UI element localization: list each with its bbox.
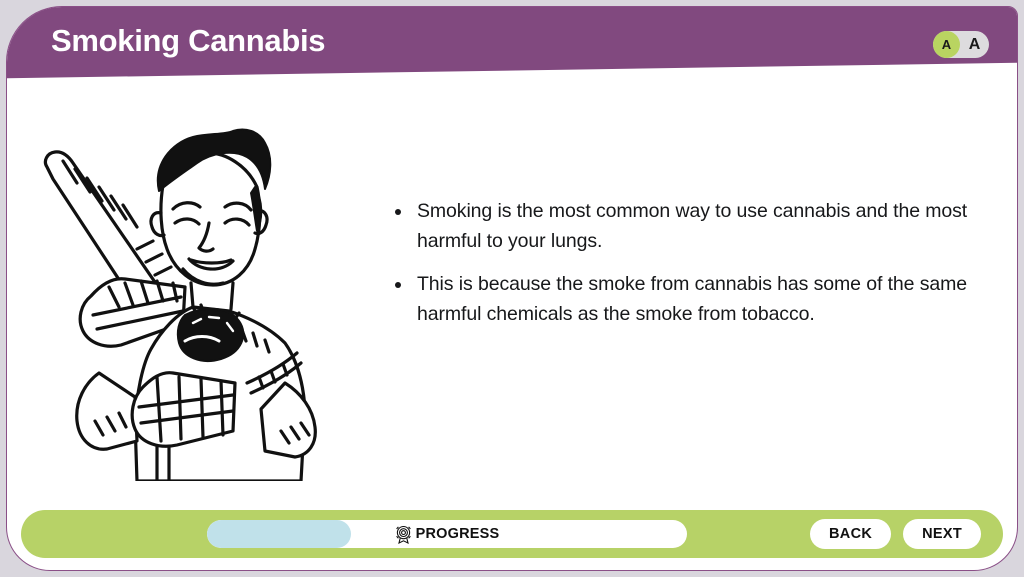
text-size-toggle[interactable]: A A (933, 31, 989, 58)
list-item: This is because the smoke from cannabis … (389, 270, 969, 329)
award-rosette-icon (395, 525, 412, 544)
progress-label: PROGRESS (416, 526, 500, 542)
progress-label-group: PROGRESS (395, 525, 500, 544)
back-button[interactable]: BACK (810, 519, 891, 549)
navigation-buttons: BACK NEXT (810, 519, 981, 549)
progress-bar-fill (207, 520, 351, 548)
hockey-player-illustration (33, 91, 353, 481)
text-size-small-option[interactable]: A (933, 31, 960, 58)
next-button[interactable]: NEXT (903, 519, 981, 549)
list-item: Smoking is the most common way to use ca… (389, 197, 969, 256)
page-title: Smoking Cannabis (51, 23, 325, 59)
text-size-large-option[interactable]: A (961, 31, 988, 58)
progress-bar[interactable]: PROGRESS (207, 520, 687, 548)
bullet-panel: Smoking is the most common way to use ca… (367, 85, 1017, 344)
main-content: Smoking is the most common way to use ca… (7, 85, 1017, 498)
slide-card: Smoking Cannabis A A (6, 6, 1018, 571)
bullet-list: Smoking is the most common way to use ca… (389, 197, 969, 330)
footer-bar: PROGRESS BACK NEXT (21, 510, 1003, 558)
illustration-container (7, 85, 367, 481)
